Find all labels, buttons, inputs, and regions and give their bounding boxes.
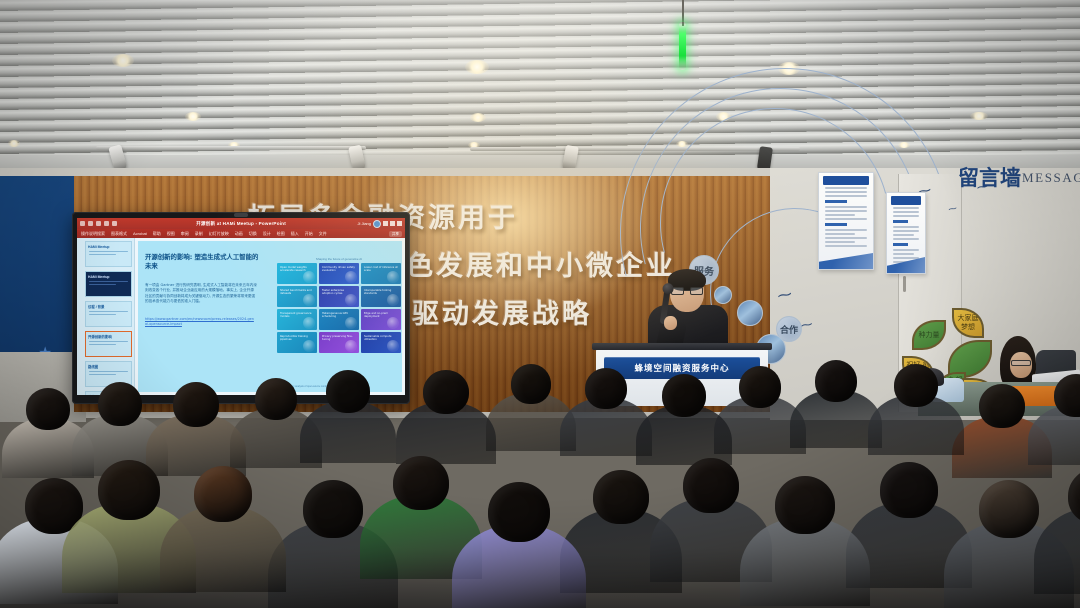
infographic-card-9: Edge and on-prem deployment (361, 309, 401, 330)
audience-member (452, 482, 586, 608)
display-camera-icon (234, 213, 248, 217)
thumbnail-line (89, 281, 128, 282)
audience-head (815, 360, 857, 402)
thumbnail-line (89, 254, 116, 255)
audience-head (585, 368, 627, 409)
wall-slogan-line: 驱动发展战略 (412, 292, 592, 331)
slide-thumbnail-1[interactable]: 1HAMi Meetup (85, 241, 132, 267)
thumbnail-title: 议程 / 背景 (86, 302, 131, 309)
audience-member (160, 466, 286, 608)
poster-line (825, 210, 867, 212)
poster-line (825, 187, 867, 189)
poster-accent (893, 243, 908, 246)
poster-line (893, 234, 914, 236)
poster-line (825, 237, 867, 239)
poster-line (825, 245, 867, 247)
audience-member (1028, 374, 1080, 477)
ribbon-tab-6[interactable]: 动画 (235, 231, 243, 237)
thumbnail-line (89, 251, 128, 252)
audience-head (683, 458, 739, 513)
poster-accent (825, 200, 847, 203)
ribbon-tab-9[interactable]: 审阅 (181, 231, 189, 237)
thumbnail-line (89, 284, 116, 285)
ribbon-tab-12[interactable]: Acrobat (133, 231, 147, 236)
audience-head (511, 364, 551, 404)
infographic-card-4: Shared benchmarks and datasets (277, 286, 317, 307)
poster-line (825, 206, 867, 208)
ribbon-tab-10[interactable]: 视图 (167, 231, 175, 237)
poster-footer (819, 253, 873, 269)
audience-head (880, 462, 938, 518)
thumbnail-line (89, 314, 116, 315)
audience-head (393, 456, 449, 510)
downlight-icon (112, 54, 134, 67)
audience-head (894, 364, 938, 407)
audience-head (326, 370, 370, 413)
card-text: Open model weights accelerate research (280, 266, 307, 272)
downlight-icon (470, 113, 486, 122)
audience-head (98, 460, 160, 520)
speaker-glasses (671, 287, 703, 295)
poster-line (893, 226, 919, 228)
slide-link[interactable]: https://www.gartner.com/en/newsroom/pres… (145, 317, 255, 327)
poster-line (825, 191, 867, 193)
card-icon (387, 294, 399, 306)
ribbon-tab-13[interactable]: 图表格式 (111, 231, 127, 237)
infographic-card-6: Interoperable tooling standards (361, 286, 401, 307)
audience-head (173, 382, 219, 427)
infographic-card-7: Transparent governance models (277, 309, 317, 330)
green-hanging-light-icon (679, 22, 686, 70)
audience-head (662, 374, 706, 417)
ribbon-tab-0[interactable]: 文件 (319, 231, 327, 237)
poster-line (825, 229, 867, 231)
ribbon-tabs[interactable]: 操作说明搜索图表格式Acrobat帮助视图审阅录制幻灯片放映动画切换设计绘图插入… (77, 229, 405, 238)
poster-line (893, 238, 919, 240)
thumbnail-line (89, 311, 128, 312)
ribbon-tab-7[interactable]: 幻灯片放映 (209, 231, 229, 237)
infographic-card-2: Community driven safety evaluation (319, 263, 359, 284)
poster-line (893, 215, 919, 217)
poster-line (893, 257, 919, 259)
poster-accent (825, 223, 847, 226)
poster-line (825, 241, 855, 243)
card-icon (345, 271, 357, 283)
card-text: Heterogeneous GPU scheduling (322, 312, 348, 318)
circle-photo (737, 300, 763, 326)
infographic-card-3: Lower cost of inference at scale (361, 263, 401, 284)
ribbon-tab-8[interactable]: 录制 (195, 231, 203, 237)
conference-hall-photo: ★ ★ ★ 拓展多金融资源用于绿色发展和中小微企业驱动发展战略 ⁓⁓⁓⁓⁓⁓⁓⁓… (0, 0, 1080, 608)
poster-line (825, 214, 855, 216)
poster-line (893, 253, 914, 255)
audience-head (488, 482, 550, 542)
poster-line (893, 211, 919, 213)
downlight-icon (970, 112, 988, 120)
speaker-hand (664, 316, 677, 330)
card-icon (303, 271, 315, 283)
audience-head (423, 370, 469, 414)
card-icon (345, 317, 357, 329)
audience-head (979, 384, 1025, 428)
poster-line (893, 249, 919, 251)
audience-head (979, 480, 1039, 538)
card-text: Interoperable tooling standards (364, 289, 391, 295)
powerpoint-title-bar: 开源创新 at HAMi Meetup - PowerPoint Ji Jian… (77, 218, 405, 229)
audience-head (593, 470, 649, 524)
poster-accent (893, 220, 908, 223)
downlight-icon (8, 140, 20, 147)
message-wall-title-cn: 留言墙 (958, 162, 1021, 192)
ribbon-tab-2[interactable]: 插入 (291, 231, 299, 237)
audience-member (868, 364, 964, 467)
infographic-card-5: Faster enterprise adoption cycles (319, 286, 359, 307)
share-button[interactable]: 共享 (389, 231, 402, 237)
document-title: 开源创新 at HAMi Meetup - PowerPoint (77, 221, 405, 227)
card-text: Faster enterprise adoption cycles (322, 289, 344, 295)
ribbon-tab-1[interactable]: 开始 (305, 231, 313, 237)
downlight-icon (465, 60, 489, 74)
audience-head (739, 366, 781, 408)
audience-shoulders (1034, 508, 1080, 594)
poster-line (825, 195, 867, 197)
poster-header (891, 196, 921, 205)
bird-icon: ⁓ (776, 286, 793, 303)
card-icon (303, 317, 315, 329)
ribbon-tab-14[interactable]: 操作说明搜索 (81, 231, 105, 237)
ribbon-tab-4[interactable]: 设计 (263, 231, 271, 237)
audience-seating (0, 330, 1080, 608)
card-icon (387, 317, 399, 329)
ribbon-tab-11[interactable]: 帮助 (153, 231, 161, 237)
downlight-icon (185, 112, 201, 121)
poster-line (893, 230, 919, 232)
audience-head (255, 378, 297, 420)
grid-caption: Shaping the future of generative AI (278, 257, 400, 261)
poster-header (823, 176, 869, 185)
ribbon-tab-3[interactable]: 绘图 (277, 231, 285, 237)
thumbnail-title: HAMi Meetup (86, 242, 131, 249)
notice-poster (818, 172, 874, 270)
poster-line (893, 207, 919, 209)
audience-head (98, 382, 142, 426)
audience-head (303, 480, 363, 538)
card-icon (387, 271, 399, 283)
poster-footer (887, 257, 925, 273)
poster-line (825, 218, 867, 220)
light-track (96, 146, 366, 150)
poster-line (825, 233, 855, 235)
infographic-card-8: Heterogeneous GPU scheduling (319, 309, 359, 330)
audience-member (1034, 468, 1080, 608)
audience-member (740, 476, 870, 608)
audience-head (26, 388, 70, 430)
notice-poster (886, 192, 926, 274)
door-handle[interactable] (903, 276, 906, 292)
slide-thumbnail-3[interactable]: 3议程 / 背景 (85, 301, 132, 327)
slide-thumbnail-2[interactable]: 2HAMi Meetup (85, 271, 132, 297)
thumbnail-title: HAMi Meetup (86, 272, 131, 279)
slide-paragraph: 有一项由 Gartner 进行的研究表明, 生成式人工智能将在未来五年内深刻改变… (145, 283, 257, 305)
card-text: Edge and on-prem deployment (364, 312, 388, 318)
slide-title: 开源创新的影响: 塑造生成式人工智能的未来 (145, 253, 260, 270)
ribbon-tab-5[interactable]: 切换 (249, 231, 257, 237)
card-icon (345, 294, 357, 306)
card-icon (303, 294, 315, 306)
audience-head (775, 476, 835, 534)
infographic-card-1: Open model weights accelerate research (277, 263, 317, 284)
message-wall-title-en: MESSAGE W (1022, 170, 1080, 186)
bird-icon: ⁓ (948, 204, 958, 214)
audience-head (194, 466, 252, 522)
